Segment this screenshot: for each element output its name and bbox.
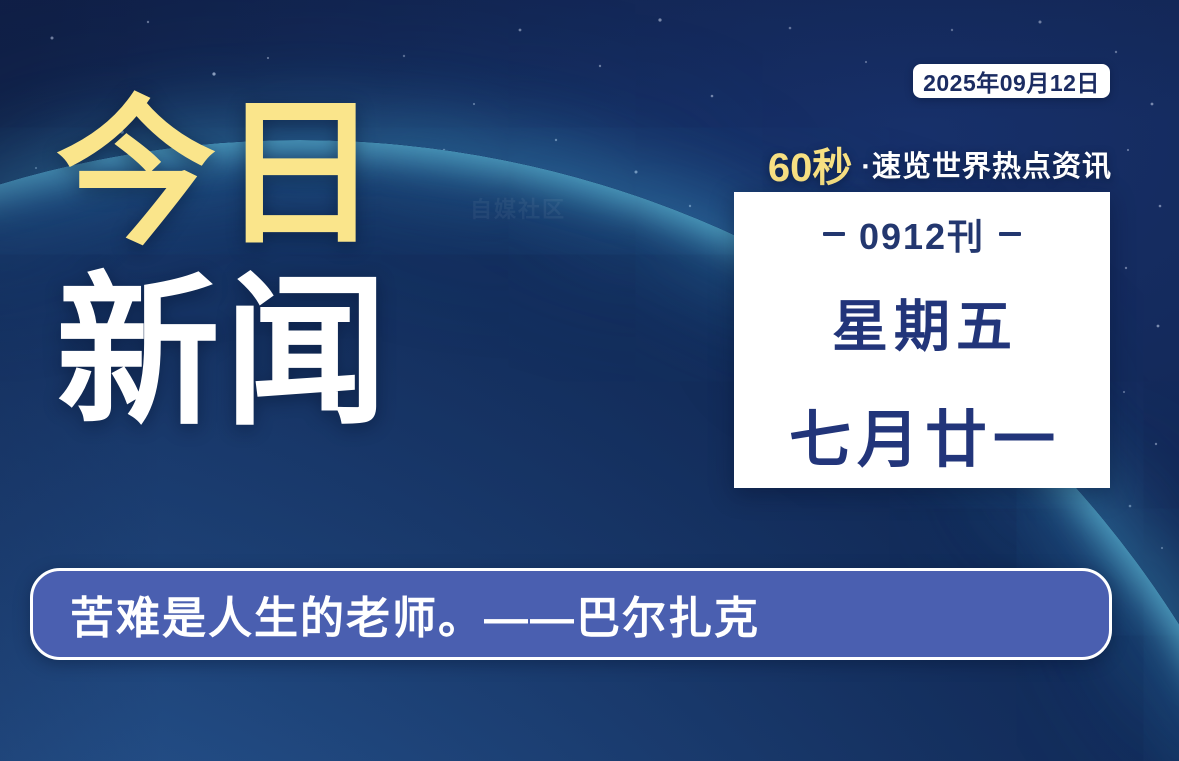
title-line-jinri: 今日: [56, 96, 486, 251]
date-badge-label: 2025年09月12日: [923, 64, 1100, 98]
tagline: 60秒 ·速览世界热点资讯: [736, 140, 1112, 188]
poster-title: 今日 新闻: [56, 96, 486, 432]
tagline-rest: ·速览世界热点资讯: [861, 143, 1112, 185]
news-poster: 自媒社区 今日 新闻 2025年09月12日 60秒 ·速览世界热点资讯 091…: [0, 0, 1179, 761]
issue-label: 0912刊: [859, 208, 985, 260]
quote-text: 苦难是人生的老师。——巴尔扎克: [33, 582, 760, 646]
quote-bar: 苦难是人生的老师。——巴尔扎克: [30, 568, 1112, 660]
weekday-label: 星期五: [826, 282, 1018, 363]
title-line-xinwen: 新闻: [56, 273, 486, 432]
dash-right-icon: [999, 232, 1021, 236]
dash-left-icon: [823, 232, 845, 236]
info-card: 0912刊 星期五 七月廿一: [734, 192, 1110, 488]
lunar-date-label: 七月廿一: [783, 389, 1061, 479]
issue-row: 0912刊: [823, 208, 1021, 260]
tagline-seconds: 60秒: [768, 135, 853, 193]
date-badge: 2025年09月12日: [913, 64, 1110, 98]
